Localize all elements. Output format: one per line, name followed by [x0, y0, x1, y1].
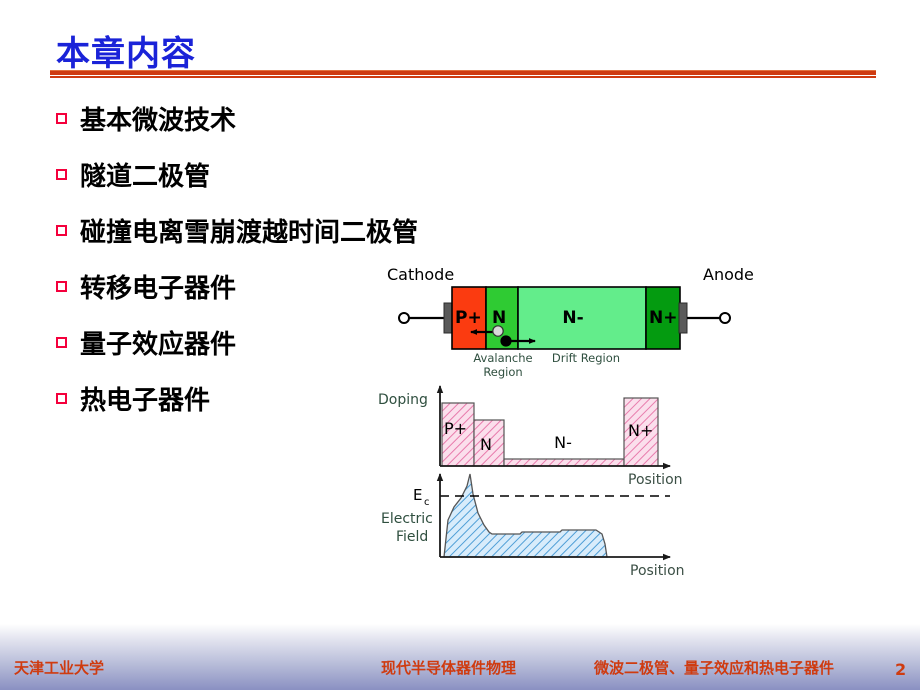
device-label-n: N	[492, 308, 506, 328]
device-label-n-minus: N-	[562, 308, 583, 328]
list-item-label: 隧道二极管	[80, 156, 210, 193]
square-bullet-icon	[56, 113, 67, 124]
footer-course: 现代半导体器件物理	[381, 657, 516, 678]
doping-bar-n-minus	[504, 459, 624, 466]
electric-field-chart: E c Electric Field Position	[381, 474, 685, 579]
footer-band: 天津工业大学 现代半导体器件物理 微波二极管、量子效应和热电子器件 2	[0, 624, 920, 690]
page-number: 2	[895, 660, 906, 679]
square-bullet-icon	[56, 169, 67, 180]
cathode-terminal	[399, 303, 452, 333]
doping-profile-chart: P+ N N- N+ Doping Position	[378, 386, 683, 488]
electric-field-area	[444, 474, 607, 557]
list-item[interactable]: 碰撞电离雪崩渡越时间二极管	[56, 202, 476, 258]
cathode-label: Cathode	[387, 265, 454, 284]
field-x-axis-label: Position	[630, 563, 685, 579]
list-item-label: 量子效应器件	[80, 324, 236, 361]
field-y-axis-label-line2: Field	[396, 529, 428, 545]
title-divider-thin-line	[50, 76, 876, 78]
drift-region-label: Drift Region	[552, 351, 620, 365]
list-item-label: 转移电子器件	[80, 268, 236, 305]
doping-label-p-plus: P+	[444, 419, 467, 438]
list-item-label: 热电子器件	[80, 380, 210, 417]
square-bullet-icon	[56, 281, 67, 292]
footer-chapter: 微波二极管、量子效应和热电子器件	[594, 657, 834, 678]
square-bullet-icon	[56, 225, 67, 236]
title-divider	[50, 70, 876, 78]
square-bullet-icon	[56, 337, 67, 348]
doping-x-axis-label: Position	[628, 472, 683, 488]
title-divider-thick-line	[50, 70, 876, 75]
anode-label: Anode	[703, 265, 754, 284]
field-y-axis-label-line1: Electric	[381, 511, 433, 527]
list-item-label: 碰撞电离雪崩渡越时间二极管	[80, 212, 418, 249]
impatt-diode-figure: P+ N N- N+ Cathode Anode Avalanche Regio…	[370, 262, 780, 582]
list-item-label: 基本微波技术	[80, 100, 236, 137]
critical-field-subscript: c	[424, 497, 430, 508]
doping-label-n-plus: N+	[628, 421, 653, 440]
anode-terminal	[679, 303, 730, 333]
avalanche-region-label-line2: Region	[483, 365, 522, 379]
list-item[interactable]: 基本微波技术	[56, 90, 476, 146]
device-label-p-plus: P+	[455, 308, 482, 328]
list-item[interactable]: 隧道二极管	[56, 146, 476, 202]
footer-institution: 天津工业大学	[14, 657, 104, 678]
page-title: 本章内容	[56, 26, 196, 75]
avalanche-region-label-line1: Avalanche	[473, 351, 532, 365]
doping-label-n: N	[480, 435, 492, 454]
doping-label-n-minus: N-	[554, 433, 572, 452]
doping-y-axis-label: Doping	[378, 392, 428, 408]
square-bullet-icon	[56, 393, 67, 404]
device-cross-section: P+ N N- N+ Cathode Anode Avalanche Regio…	[387, 265, 754, 379]
critical-field-label: E	[413, 486, 422, 504]
device-label-n-plus: N+	[649, 308, 677, 328]
